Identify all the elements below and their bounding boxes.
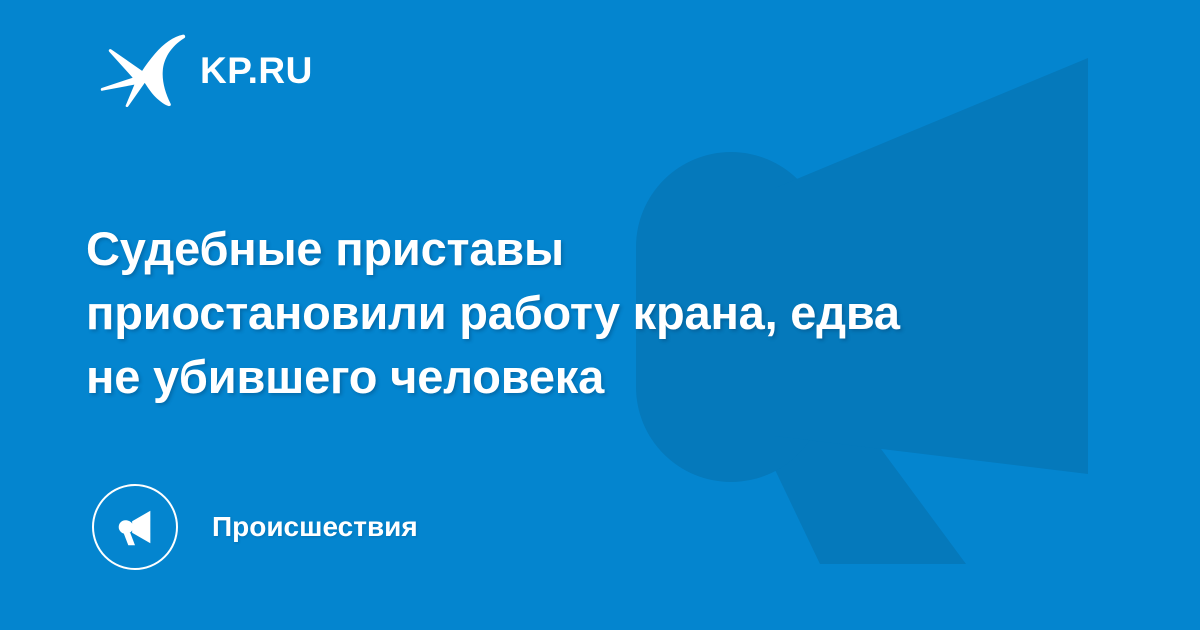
brand-name: KP.RU <box>200 52 313 89</box>
megaphone-icon <box>112 504 158 550</box>
category-badge[interactable]: Происшествия <box>92 484 418 570</box>
swallow-bird-icon <box>100 33 186 107</box>
headline: Судебные приставы приостановили работу к… <box>86 217 1096 409</box>
card-content: KP.RU Судебные приставы приостановили ра… <box>0 0 1200 630</box>
site-logo[interactable]: KP.RU <box>100 33 313 107</box>
category-icon-circle <box>92 484 178 570</box>
category-label: Происшествия <box>212 513 418 541</box>
headline-line: Судебные приставы <box>86 217 1096 281</box>
share-card: KP.RU Судебные приставы приостановили ра… <box>0 0 1200 630</box>
headline-line: не убившего человека <box>86 345 1096 409</box>
headline-line: приостановили работу крана, едва <box>86 281 1096 345</box>
